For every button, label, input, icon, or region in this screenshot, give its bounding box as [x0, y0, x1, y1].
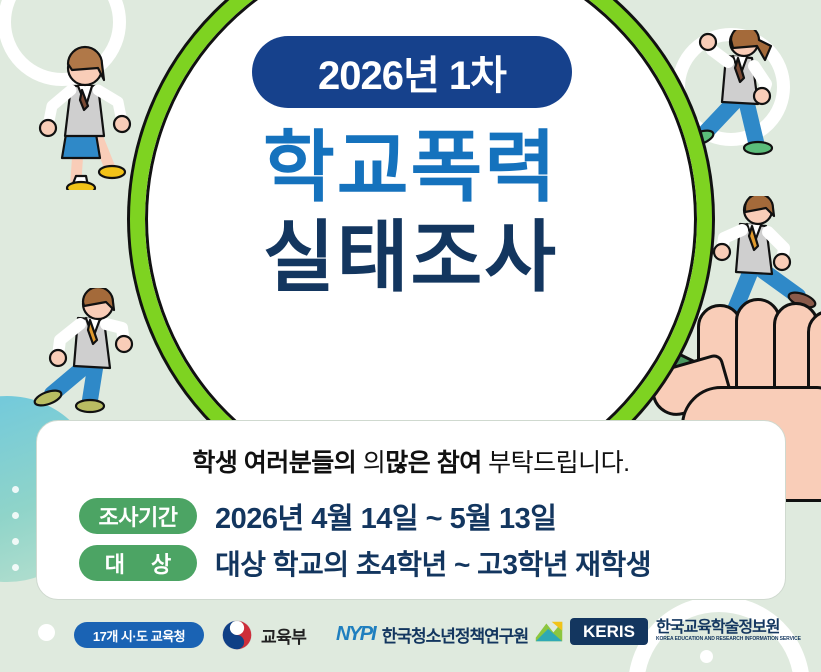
keris-mark: KERIS	[570, 618, 648, 645]
lead-bold-2: 많은 참여	[385, 449, 481, 477]
logo-nypi: NYPI 한국청소년정책연구원	[336, 622, 528, 647]
poster-root: 2026년 1차 학교폭력 실태조사 학생 여러분들의 의많은 참여 부탁드립니…	[0, 0, 821, 672]
target-label-pill: 대 상	[79, 545, 197, 581]
lead-text: 학생 여러분들의 의많은 참여 부탁드립니다.	[37, 443, 785, 479]
decor-dot	[12, 538, 19, 545]
footer-logos: 17개 시·도 교육청 교육부 NYPI 한국청소년정책연구원 KERIS 한국…	[0, 612, 821, 672]
decor-dot	[12, 486, 19, 493]
decor-dot	[12, 564, 19, 571]
logo-keris: KERIS 한국교육학술정보원 KOREA EDUCATION AND RESE…	[534, 618, 801, 645]
education-offices-pill: 17개 시·도 교육청	[74, 622, 204, 648]
edition-badge: 2026년 1차	[252, 36, 572, 108]
logo-ministry-of-education: 교육부	[222, 620, 306, 650]
lead-normal-1: 의	[363, 449, 386, 477]
page-title-line1: 학교폭력	[0, 128, 821, 206]
nypi-mark: NYPI	[336, 623, 375, 646]
period-value: 2026년 4월 14일 ~ 5월 13일	[215, 495, 556, 537]
keris-symbol-icon	[534, 618, 564, 645]
decor-dot	[12, 512, 19, 519]
keris-label-ko: 한국교육학술정보원	[656, 620, 801, 637]
ministry-label: 교육부	[261, 623, 306, 648]
taegeuk-icon	[222, 620, 252, 650]
keris-label-en: KOREA EDUCATION AND RESEARCH INFORMATION…	[656, 637, 801, 642]
keris-text: 한국교육학술정보원 KOREA EDUCATION AND RESEARCH I…	[656, 620, 801, 642]
info-card: 학생 여러분들의 의많은 참여 부탁드립니다. 조사기간 2026년 4월 14…	[36, 420, 786, 600]
page-title-line2: 실태조사	[0, 218, 821, 296]
lead-bold-1: 학생 여러분들의	[192, 449, 362, 477]
target-value: 대상 학교의 초4학년 ~ 고3학년 재학생	[215, 543, 651, 583]
info-row-target: 대 상 대상 학교의 초4학년 ~ 고3학년 재학생	[79, 543, 651, 583]
nypi-label: 한국청소년정책연구원	[382, 622, 528, 647]
period-label-pill: 조사기간	[79, 498, 197, 534]
info-row-period: 조사기간 2026년 4월 14일 ~ 5월 13일	[79, 495, 556, 537]
student-illustration-bottom-left	[30, 288, 160, 418]
lead-normal-2: 부탁드립니다.	[482, 449, 630, 477]
